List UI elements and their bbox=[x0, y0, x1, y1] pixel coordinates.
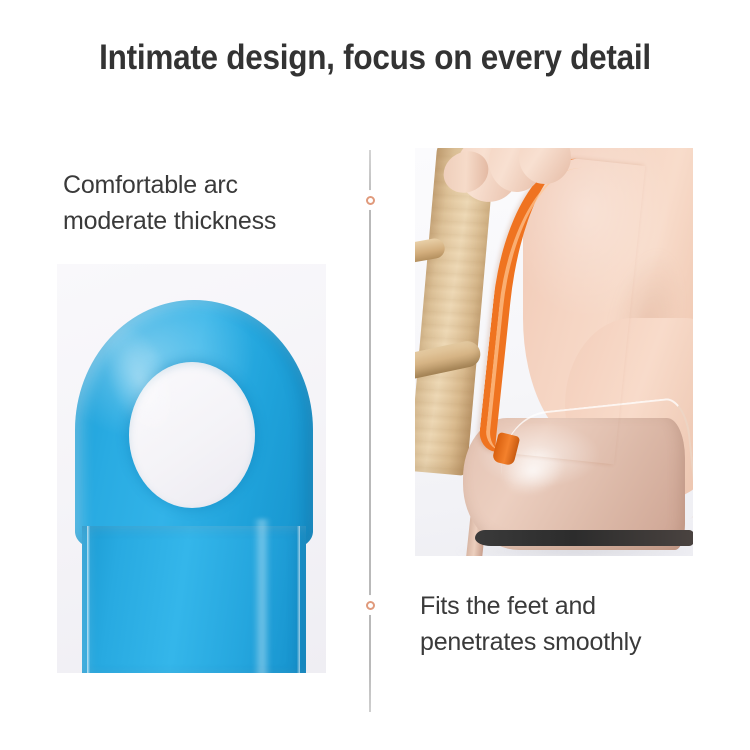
caption-line-2: penetrates smoothly bbox=[420, 624, 641, 660]
vertical-divider-line bbox=[369, 150, 371, 712]
shoe-sole bbox=[475, 530, 693, 546]
feature-caption-fits-the-feet: Fits the feet and penetrates smoothly bbox=[420, 588, 641, 660]
shoehorn-blade-body bbox=[82, 526, 306, 673]
product-photo-shoehorn-in-use bbox=[415, 148, 693, 556]
product-photo-blue-shoehorn bbox=[57, 264, 326, 673]
caption-line-1: Fits the feet and bbox=[420, 588, 641, 624]
feature-caption-comfortable-arc: Comfortable arc moderate thickness bbox=[63, 167, 276, 239]
timeline-dot-top-icon bbox=[363, 193, 377, 207]
page-title: Intimate design, focus on every detail bbox=[38, 38, 713, 78]
caption-line-1: Comfortable arc bbox=[63, 167, 276, 203]
shoehorn-right-edge-highlight bbox=[297, 526, 300, 673]
product-feature-banner: Intimate design, focus on every detail C… bbox=[0, 0, 750, 750]
shoehorn-body-gloss bbox=[253, 519, 271, 673]
timeline-dot-bottom-icon bbox=[363, 598, 377, 612]
caption-line-2: moderate thickness bbox=[63, 203, 276, 239]
shoehorn-left-edge-highlight bbox=[87, 526, 90, 673]
blue-shoehorn-illustration bbox=[57, 264, 326, 673]
